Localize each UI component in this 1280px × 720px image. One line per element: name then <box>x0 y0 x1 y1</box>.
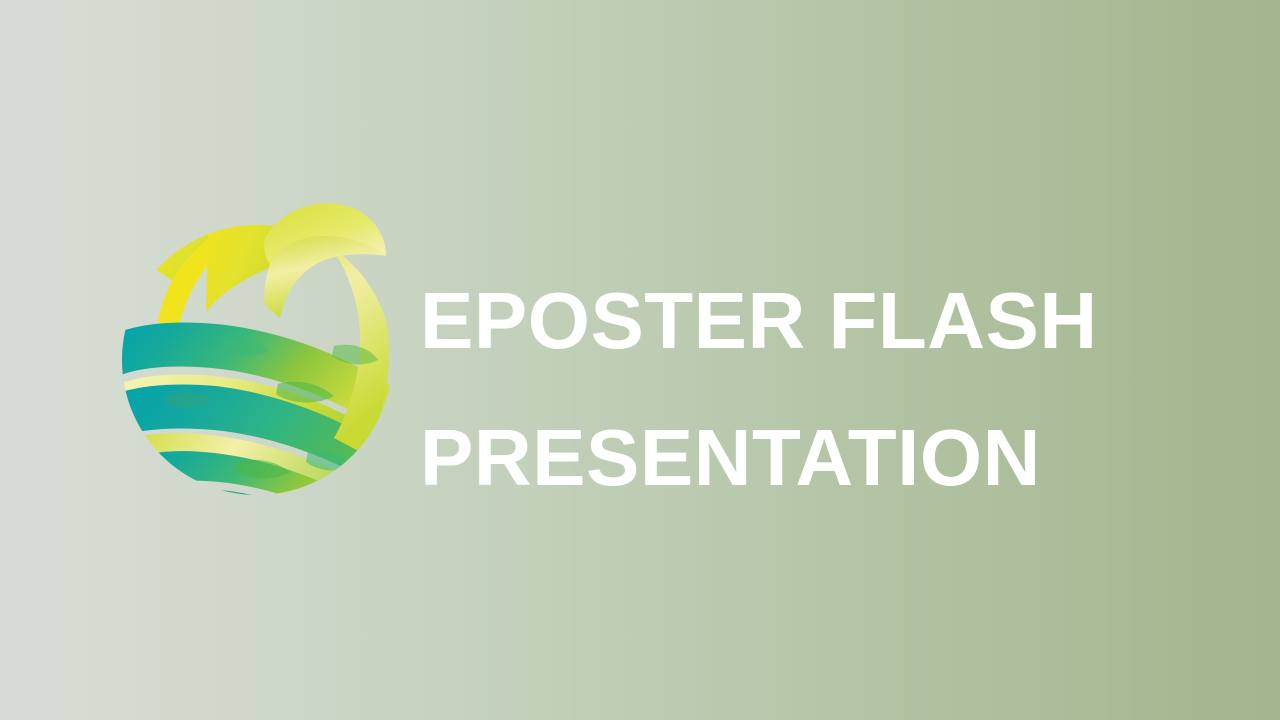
title-block: EPOSTER FLASH PRESENTATION <box>420 252 1220 526</box>
ribbon-band-8 <box>144 489 368 520</box>
logo <box>120 200 405 520</box>
slide-content: EPOSTER FLASH PRESENTATION <box>0 0 1280 720</box>
title-line-2: PRESENTATION <box>420 389 1220 526</box>
slide-canvas: EPOSTER FLASH PRESENTATION <box>0 0 1280 720</box>
spiral-globe-leaf-icon <box>120 200 405 520</box>
title-line-1: EPOSTER FLASH <box>420 252 1220 389</box>
